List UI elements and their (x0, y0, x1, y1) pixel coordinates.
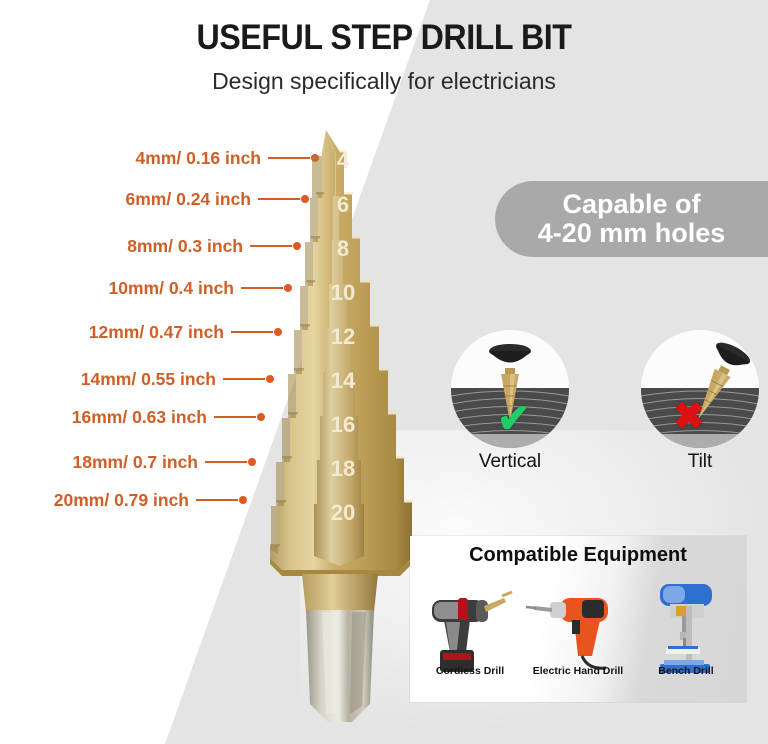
measurement-label: 18mm/ 0.7 inch (73, 452, 198, 473)
equipment-item-cordless-drill: Cordless Drill (414, 576, 526, 685)
usage-photo-vertical: ✔ (451, 330, 569, 448)
equipment-label-cordless-drill: Cordless Drill (414, 665, 526, 677)
compatible-equipment-title: Compatible Equipment (410, 544, 746, 567)
equipment-label-electric-hand-drill: Electric Hand Drill (522, 665, 634, 677)
bit-step-number: 20 (331, 500, 355, 525)
capacity-banner: Capable of 4-20 mm holes (495, 181, 768, 257)
cross-icon: ✖ (673, 394, 705, 439)
bit-step-number: 4 (337, 148, 350, 173)
bit-step-number: 6 (337, 192, 349, 217)
capacity-banner-line1: Capable of (562, 190, 700, 219)
bit-step-number: 18 (331, 456, 355, 481)
equipment-item-bench-drill: Bench Drill (630, 576, 742, 685)
infographic-canvas: USEFUL STEP DRILL BIT Design specificall… (0, 0, 768, 744)
bit-shank (302, 574, 378, 722)
measurement-label: 12mm/ 0.47 inch (89, 322, 224, 343)
measurement-label: 8mm/ 0.3 inch (127, 236, 243, 257)
measurement-callout: 14mm/ 0.55 inch (0, 366, 274, 392)
step-drill-bit-illustration: 468101214161820 (240, 126, 420, 726)
measurement-label: 14mm/ 0.55 inch (81, 369, 216, 390)
usage-photo-tilt: ✖ (641, 330, 759, 448)
capacity-banner-line2: 4-20 mm holes (538, 219, 726, 248)
measurement-label: 20mm/ 0.79 inch (54, 490, 189, 511)
measurement-label: 6mm/ 0.24 inch (126, 189, 251, 210)
measurement-callout: 16mm/ 0.63 inch (0, 404, 265, 430)
usage-item-tilt: ✖ Tilt (636, 330, 764, 473)
usage-label-vertical: Vertical (446, 451, 574, 473)
check-icon: ✔ (497, 396, 531, 442)
bit-step-number: 12 (331, 324, 355, 349)
equipment-label-bench-drill: Bench Drill (630, 665, 742, 677)
measurement-callout: 20mm/ 0.79 inch (0, 487, 247, 513)
bit-step-number: 14 (331, 368, 356, 393)
bit-step-number: 16 (331, 412, 355, 437)
measurement-callout: 18mm/ 0.7 inch (0, 449, 256, 475)
page-subtitle: Design specifically for electricians (0, 68, 768, 95)
compatible-equipment-panel: Compatible Equipment Cordless Drill (410, 536, 746, 702)
page-title: USEFUL STEP DRILL BIT (31, 18, 738, 58)
equipment-item-electric-hand-drill: Electric Hand Drill (522, 576, 634, 685)
usage-label-tilt: Tilt (636, 451, 764, 473)
usage-comparison: ✔ Vertical (446, 330, 768, 490)
measurement-label: 10mm/ 0.4 inch (109, 278, 234, 299)
bit-step-number: 8 (337, 236, 349, 261)
usage-item-vertical: ✔ Vertical (446, 330, 574, 473)
measurement-label: 16mm/ 0.63 inch (72, 407, 207, 428)
bit-step-number: 10 (331, 280, 355, 305)
measurement-leader-line (196, 499, 238, 501)
